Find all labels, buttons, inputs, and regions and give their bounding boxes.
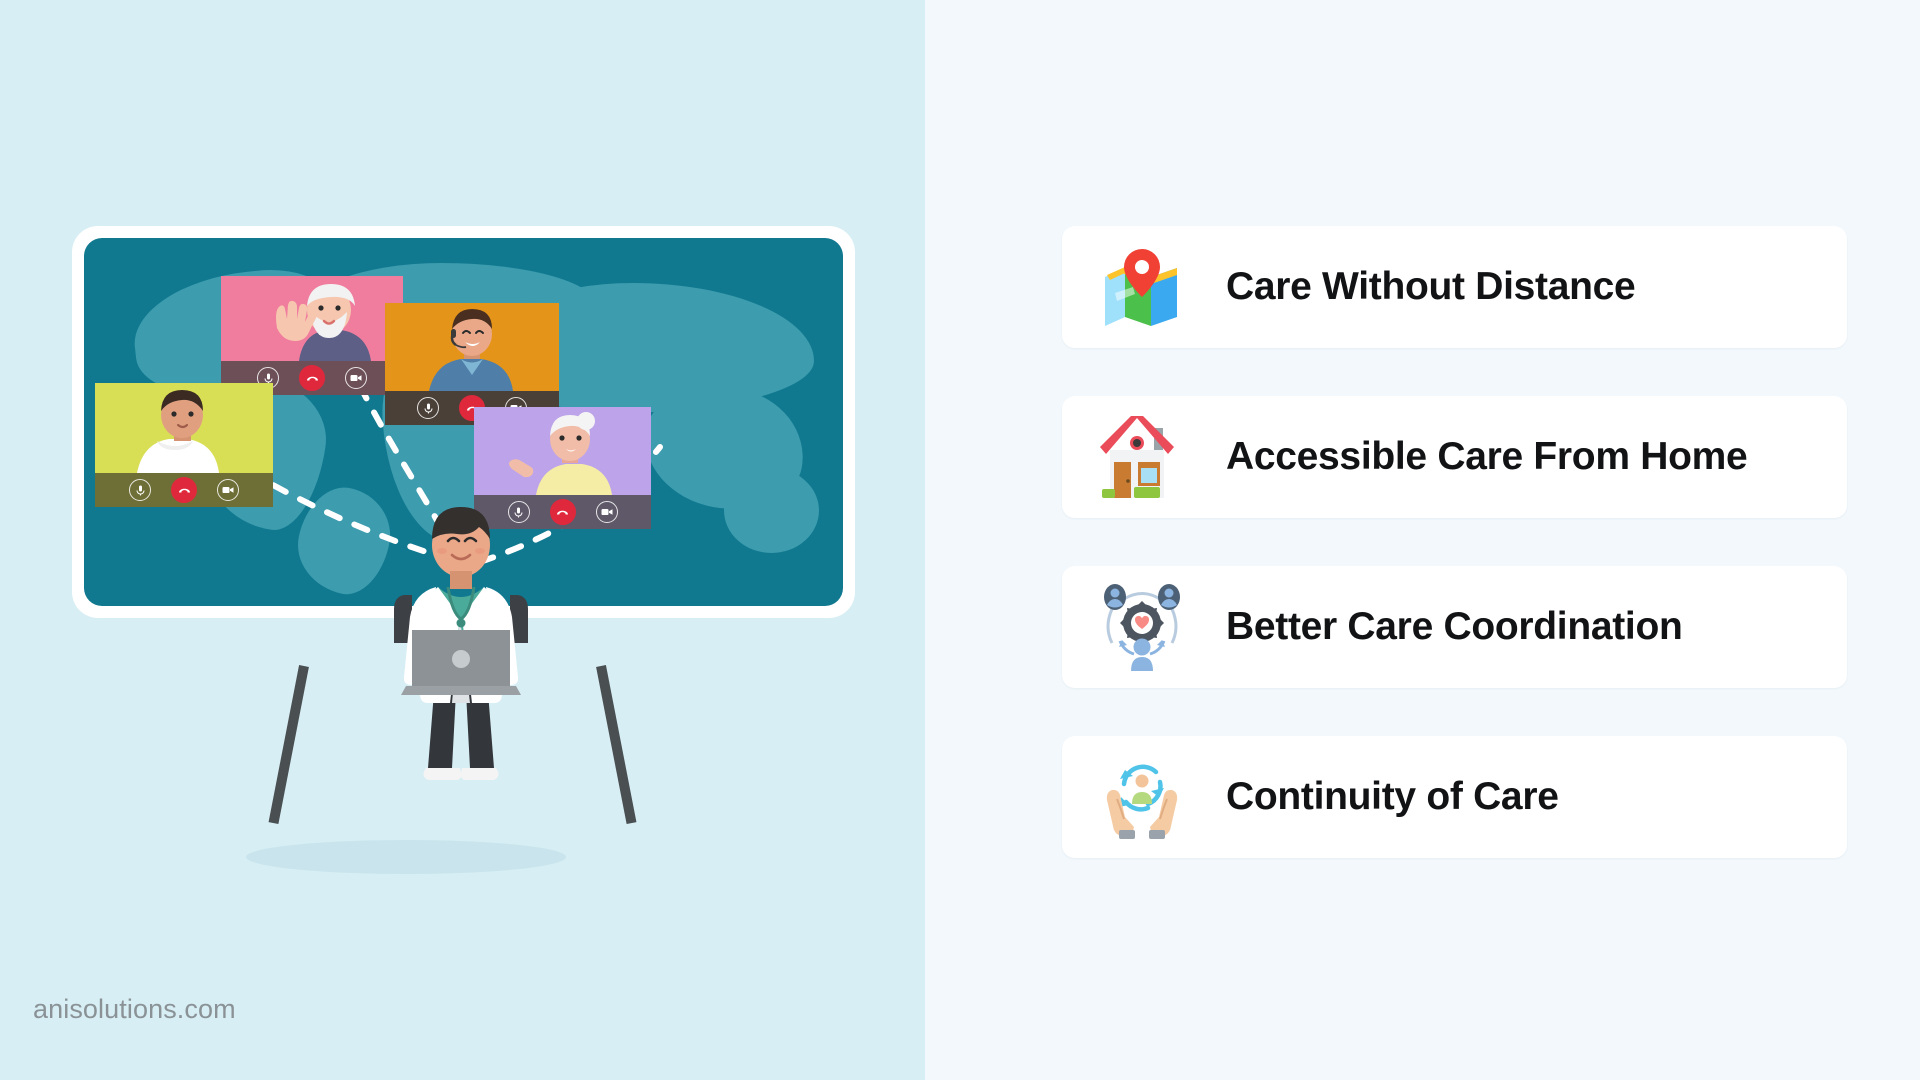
house-icon: [1090, 407, 1194, 507]
feature-card-better-care-coordination[interactable]: Better Care Coordination: [1062, 566, 1847, 688]
participant-elderly-woman: [474, 407, 651, 495]
feature-card-accessible-care-from-home[interactable]: Accessible Care From Home: [1062, 396, 1847, 518]
video-tile[interactable]: [95, 383, 273, 507]
video-icon[interactable]: [217, 479, 239, 501]
map-landmass: [724, 468, 819, 553]
illustration-panel: anisolutions.com: [0, 0, 925, 1080]
feature-label: Care Without Distance: [1226, 265, 1635, 309]
mic-icon[interactable]: [417, 397, 439, 419]
video-feed: [95, 383, 273, 473]
feature-label: Continuity of Care: [1226, 775, 1559, 819]
end-call-icon[interactable]: [550, 499, 576, 525]
video-icon[interactable]: [596, 501, 618, 523]
floor-shadow: [246, 840, 566, 874]
desk-leg: [269, 665, 309, 824]
end-call-icon[interactable]: [299, 365, 325, 391]
features-panel: Care Without Distance Acc: [925, 0, 1920, 1080]
end-call-icon[interactable]: [171, 477, 197, 503]
telehealth-illustration: [0, 0, 925, 1080]
video-feed: [474, 407, 651, 495]
participant-young-man: [95, 383, 273, 473]
hands-continuity-icon: [1090, 747, 1194, 847]
map-pin-icon: [1090, 237, 1194, 337]
feature-label: Accessible Care From Home: [1226, 435, 1747, 479]
feature-label: Better Care Coordination: [1226, 605, 1683, 649]
desk-leg: [596, 665, 636, 824]
video-feed: [385, 303, 559, 391]
video-feed: [221, 276, 403, 361]
watermark: anisolutions.com: [33, 994, 236, 1025]
mic-icon[interactable]: [129, 479, 151, 501]
video-icon[interactable]: [345, 367, 367, 389]
call-controls[interactable]: [95, 473, 273, 507]
feature-card-care-without-distance[interactable]: Care Without Distance: [1062, 226, 1847, 348]
feature-card-list: Care Without Distance Acc: [1062, 226, 1847, 858]
participant-elderly-man: [221, 276, 403, 361]
doctor-figure: [376, 487, 546, 787]
participant-headset-man: [385, 303, 559, 391]
feature-card-continuity-of-care[interactable]: Continuity of Care: [1062, 736, 1847, 858]
care-coordination-icon: [1090, 577, 1194, 677]
video-tile[interactable]: [221, 276, 403, 395]
